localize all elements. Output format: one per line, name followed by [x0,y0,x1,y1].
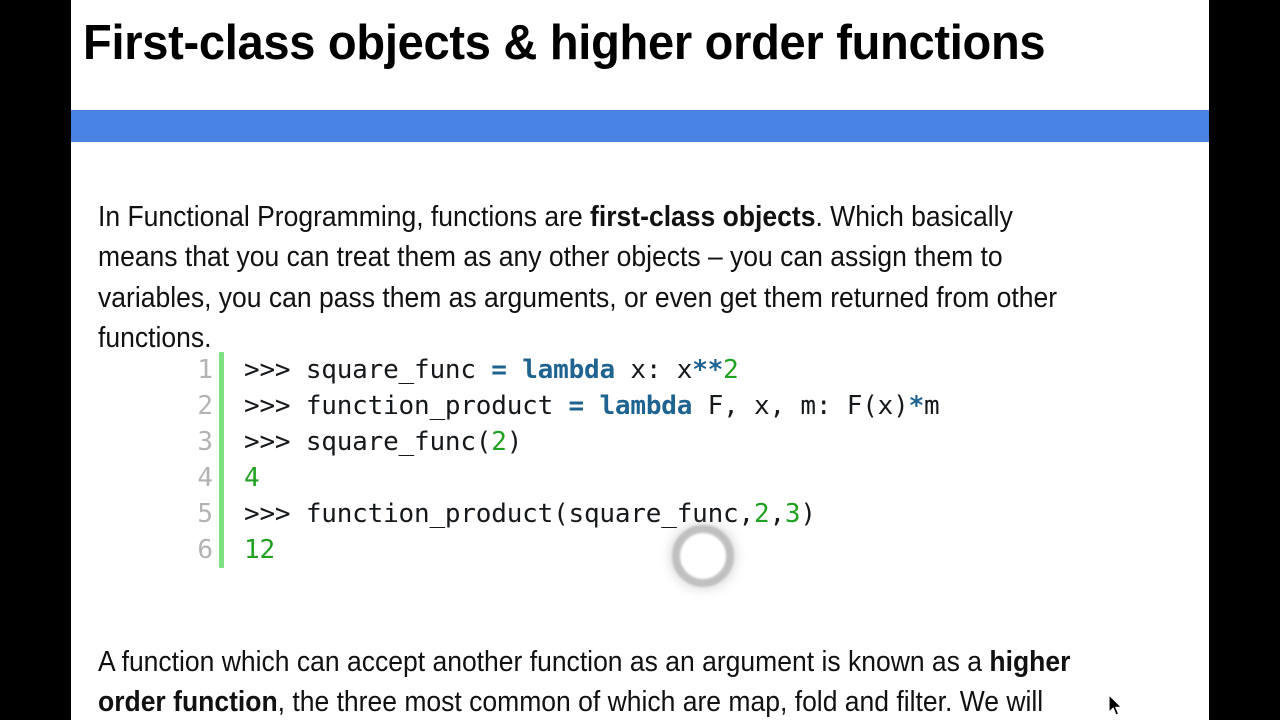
code-line-numbers: 123456 [179,352,219,568]
code-content: >>> square_func = lambda x: x**2>>> func… [244,352,1119,568]
code-token: = [569,391,584,421]
code-line-number: 3 [179,424,213,460]
code-token: F, x, m: F(x) [692,391,908,421]
code-token: 12 [244,535,275,565]
code-line-number: 1 [179,352,213,388]
outro-paragraph: A function which can accept another func… [98,642,1084,720]
code-line: >>> square_func(2) [244,424,1119,460]
code-token: >>> square_func( [244,427,491,457]
code-token: 4 [244,463,259,493]
code-token: ) [800,499,815,529]
slide-canvas: First-class objects & higher order funct… [71,0,1209,720]
code-token: 3 [785,499,800,529]
page-title: First-class objects & higher order funct… [83,18,1045,69]
code-token: 2 [754,499,769,529]
code-token: >>> square_func [244,355,491,385]
intro-text-part1: In Functional Programming, functions are [98,201,590,233]
code-line: 4 [244,460,1119,496]
code-line: 12 [244,532,1119,568]
code-token: lambda [599,391,692,421]
code-token [507,355,522,385]
outro-text-part1: A function which can accept another func… [98,646,989,678]
title-block: First-class objects & higher order funct… [83,8,1203,80]
code-token: * [909,391,924,421]
code-line-number: 2 [179,388,213,424]
code-token: , [769,499,784,529]
intro-bold-term: first-class objects [590,201,815,233]
code-token: = [491,355,506,385]
code-token: 2 [491,427,506,457]
code-token: ) [507,427,522,457]
accent-divider-bar [71,110,1209,142]
intro-paragraph: In Functional Programming, functions are… [98,197,1084,359]
code-token: lambda [522,355,615,385]
code-token: 2 [723,355,738,385]
code-line-number: 6 [179,532,213,568]
slide-root: First-class objects & higher order funct… [0,0,1280,720]
code-token [584,391,599,421]
code-line: >>> square_func = lambda x: x**2 [244,352,1119,388]
code-token: x: x [615,355,692,385]
code-accent-rule [219,352,224,568]
code-token: m [924,391,939,421]
code-line-number: 5 [179,496,213,532]
code-token: >>> function_product(square_func, [244,499,754,529]
code-token: ** [692,355,723,385]
code-token: >>> function_product [244,391,569,421]
code-line: >>> function_product = lambda F, x, m: F… [244,388,1119,424]
code-line-number: 4 [179,460,213,496]
code-block: 123456 >>> square_func = lambda x: x**2>… [179,352,1119,568]
code-line: >>> function_product(square_func,2,3) [244,496,1119,532]
